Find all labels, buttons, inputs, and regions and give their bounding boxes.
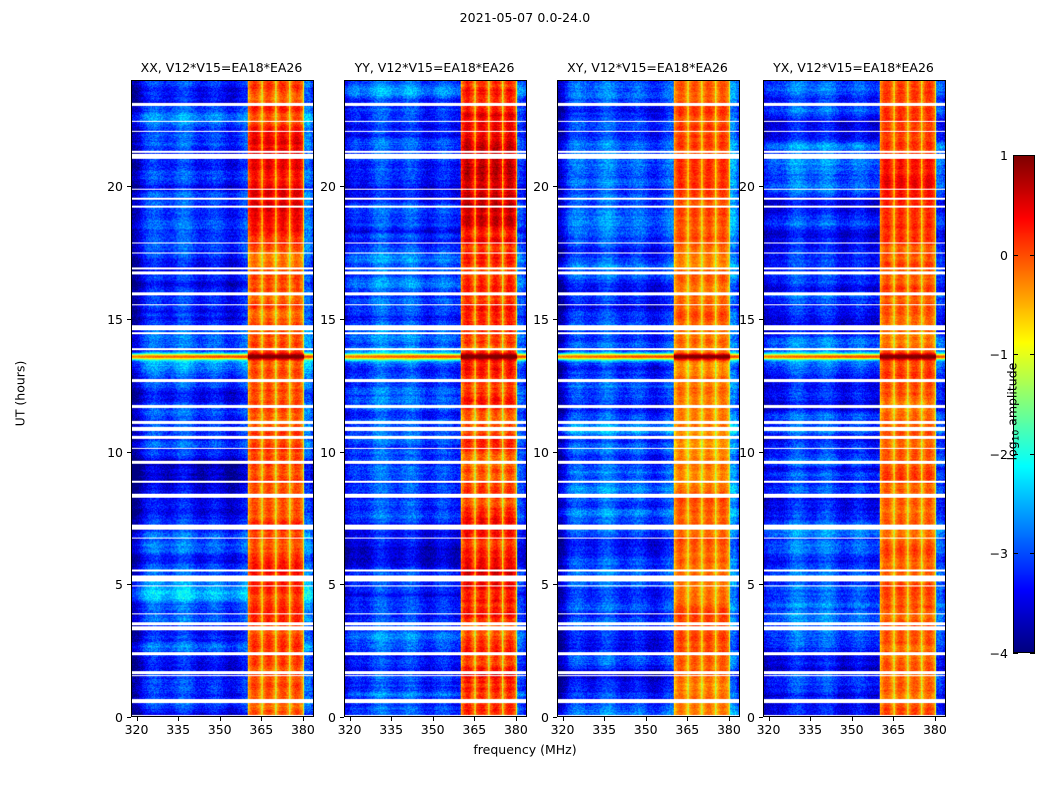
colorbar-label: log10 amplitude: [1005, 312, 1020, 512]
x-tick-label: 365: [241, 722, 281, 737]
y-tick-label: 20: [302, 179, 336, 193]
x-tick-label: 380: [915, 722, 955, 737]
spectrogram-panel-xx[interactable]: [131, 80, 314, 717]
x-tick-mark: [350, 717, 351, 721]
y-tick-mark: [127, 186, 131, 187]
y-axis-label: UT (hours): [13, 329, 28, 459]
x-tick-mark: [604, 717, 605, 721]
y-tick-mark: [127, 717, 131, 718]
colorbar-tick-mark: [1013, 553, 1018, 554]
x-tick-mark: [474, 717, 475, 721]
colorbar-tick-mark: [1030, 553, 1035, 554]
y-tick-label: 5: [721, 577, 755, 591]
y-tick-label: 5: [515, 577, 549, 591]
colorbar-tick-mark: [1030, 653, 1035, 654]
x-tick-mark: [935, 717, 936, 721]
panel-title-yx: YX, V12*V15=EA18*EA26: [762, 60, 945, 75]
y-tick-mark: [553, 452, 557, 453]
x-tick-mark: [563, 717, 564, 721]
y-tick-label: 15: [89, 312, 123, 326]
y-tick-label: 10: [302, 445, 336, 459]
colorbar-label-suffix: amplitude: [1005, 363, 1020, 430]
x-tick-label: 365: [873, 722, 913, 737]
x-tick-label: 350: [413, 722, 453, 737]
y-tick-mark: [553, 186, 557, 187]
y-tick-mark: [759, 717, 763, 718]
y-tick-label: 5: [302, 577, 336, 591]
y-tick-mark: [127, 584, 131, 585]
x-tick-label: 335: [584, 722, 624, 737]
y-tick-label: 10: [89, 445, 123, 459]
spectrogram-panel-xy[interactable]: [557, 80, 740, 717]
x-tick-mark: [391, 717, 392, 721]
colorbar-tick-label: −1: [978, 347, 1008, 361]
colorbar-tick-label: 1: [978, 148, 1008, 162]
colorbar-tick-label: −3: [978, 546, 1008, 560]
x-tick-label: 380: [496, 722, 536, 737]
colorbar-tick-label: −2: [978, 447, 1008, 461]
y-tick-mark: [340, 319, 344, 320]
x-tick-mark: [810, 717, 811, 721]
colorbar-label-prefix: log: [1005, 441, 1020, 460]
colorbar-tick-label: 0: [978, 248, 1008, 262]
y-tick-label: 15: [302, 312, 336, 326]
x-tick-label: 350: [832, 722, 872, 737]
y-tick-label: 20: [515, 179, 549, 193]
y-tick-mark: [340, 584, 344, 585]
panel-title-xy: XY, V12*V15=EA18*EA26: [556, 60, 739, 75]
colorbar-tick-mark: [1013, 255, 1018, 256]
x-tick-mark: [646, 717, 647, 721]
figure-canvas: 2021-05-07 0.0-24.0 XX, V12*V15=EA18*EA2…: [0, 0, 1050, 800]
y-tick-mark: [127, 319, 131, 320]
y-tick-label: 0: [302, 710, 336, 724]
colorbar-tick-mark: [1030, 354, 1035, 355]
y-tick-label: 15: [721, 312, 755, 326]
x-tick-mark: [261, 717, 262, 721]
x-tick-label: 335: [158, 722, 198, 737]
figure-suptitle: 2021-05-07 0.0-24.0: [0, 10, 1050, 25]
colorbar-tick-label: −4: [978, 646, 1008, 660]
x-tick-mark: [220, 717, 221, 721]
y-tick-mark: [553, 584, 557, 585]
x-tick-label: 335: [371, 722, 411, 737]
x-tick-label: 350: [626, 722, 666, 737]
panel-title-xx: XX, V12*V15=EA18*EA26: [130, 60, 313, 75]
y-tick-label: 10: [721, 445, 755, 459]
x-tick-mark: [433, 717, 434, 721]
x-tick-label: 335: [790, 722, 830, 737]
x-tick-mark: [769, 717, 770, 721]
colorbar-label-sub: 10: [1012, 430, 1022, 441]
x-tick-label: 380: [283, 722, 323, 737]
x-tick-label: 350: [200, 722, 240, 737]
x-tick-mark: [687, 717, 688, 721]
y-tick-mark: [759, 452, 763, 453]
y-tick-label: 10: [515, 445, 549, 459]
x-tick-mark: [178, 717, 179, 721]
colorbar-tick-mark: [1030, 454, 1035, 455]
y-tick-label: 0: [515, 710, 549, 724]
colorbar-tick-mark: [1030, 155, 1035, 156]
y-tick-mark: [340, 452, 344, 453]
y-tick-mark: [759, 186, 763, 187]
colorbar-tick-mark: [1013, 155, 1018, 156]
x-tick-label: 365: [667, 722, 707, 737]
y-tick-label: 20: [721, 179, 755, 193]
colorbar-tick-mark: [1013, 653, 1018, 654]
y-tick-mark: [340, 717, 344, 718]
panel-title-yy: YY, V12*V15=EA18*EA26: [343, 60, 526, 75]
x-tick-label: 380: [709, 722, 749, 737]
x-axis-label: frequency (MHz): [0, 742, 1050, 757]
y-tick-label: 20: [89, 179, 123, 193]
y-tick-mark: [553, 319, 557, 320]
y-tick-mark: [340, 186, 344, 187]
x-tick-label: 365: [454, 722, 494, 737]
y-tick-mark: [759, 584, 763, 585]
x-tick-mark: [137, 717, 138, 721]
x-tick-mark: [893, 717, 894, 721]
spectrogram-panel-yx[interactable]: [763, 80, 946, 717]
colorbar-tick-mark: [1030, 255, 1035, 256]
y-tick-label: 0: [721, 710, 755, 724]
y-tick-mark: [127, 452, 131, 453]
y-tick-label: 15: [515, 312, 549, 326]
y-tick-label: 5: [89, 577, 123, 591]
x-tick-mark: [852, 717, 853, 721]
y-tick-mark: [759, 319, 763, 320]
y-tick-label: 0: [89, 710, 123, 724]
spectrogram-panel-yy[interactable]: [344, 80, 527, 717]
y-tick-mark: [553, 717, 557, 718]
